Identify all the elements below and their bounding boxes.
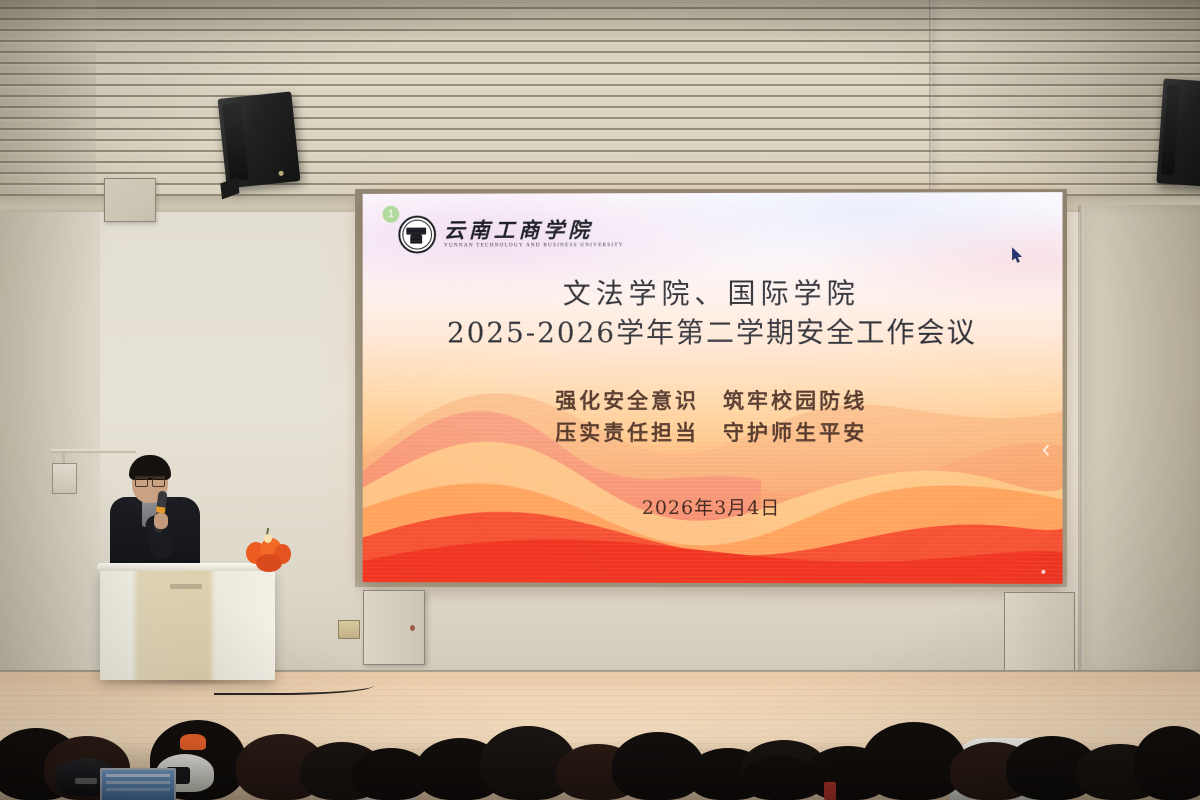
audience-cup [824,782,836,800]
podium-nameplate [170,584,202,589]
slide-date: 2026年3月4日 [363,493,1063,521]
wall-power-outlet [338,620,360,639]
wall-control-box [52,463,77,494]
projection-screen[interactable]: 1 云南工商学院 YUNNAN TECHNOLOGY AND BUSINESS … [363,192,1063,584]
slide-title-line-2: 2025-2026学年第二学期安全工作会议 [363,312,1063,352]
university-crest-icon [398,216,436,254]
mouse-cursor-icon [1012,247,1023,263]
glasses-icon [135,476,165,485]
flower-center [264,534,272,543]
slide-title-line-1: 文法学院、国际学院 [363,274,1063,313]
open-laptop-screen[interactable] [100,768,176,800]
logo-english-name: YUNNAN TECHNOLOGY AND BUSINESS UNIVERSIT… [444,244,624,250]
audience-rows [0,676,1200,800]
slide-corner-dot [1041,570,1045,574]
slide-slogan-line-2: 压实责任担当 守护师生平安 [363,416,1063,448]
chevron-left-icon[interactable]: ‹ [1042,435,1051,461]
slide-title-block: 文法学院、国际学院 2025-2026学年第二学期安全工作会议 [363,274,1063,352]
wall-pillar-edge [1078,205,1084,675]
audience-head [742,756,818,800]
university-logo: 云南工商学院 YUNNAN TECHNOLOGY AND BUSINESS UN… [398,215,623,253]
auditorium-photo: 1 云南工商学院 YUNNAN TECHNOLOGY AND BUSINESS … [0,0,1200,800]
podium [100,567,275,680]
wall-access-hatch-icon [104,178,156,222]
slide-slogan-line-1: 强化安全意识 筑牢校园防线 [363,385,1063,417]
slide-number-badge: 1 [382,206,399,223]
mountain-layer-deep-red [363,528,1063,584]
flower-arrangement [244,528,292,574]
slide-slogan-block: 强化安全意识 筑牢校园防线 压实责任担当 守护师生平安 [363,385,1063,448]
audience-orange-object [180,734,206,750]
access-panel-left[interactable] [363,590,425,665]
lower-wall-right [1080,205,1200,675]
access-panel-right[interactable] [1004,592,1075,680]
panel-lock-icon [410,625,415,631]
presenter-hand [154,513,168,529]
audience-head [1134,726,1200,800]
logo-chinese-name: 云南工商学院 [444,220,624,241]
ceiling-speaker-right [1156,78,1200,186]
ceiling-speaker-left [217,91,300,188]
flower-petal [256,554,282,572]
audience-head [862,722,966,800]
ceiling-shadow [0,0,1200,40]
